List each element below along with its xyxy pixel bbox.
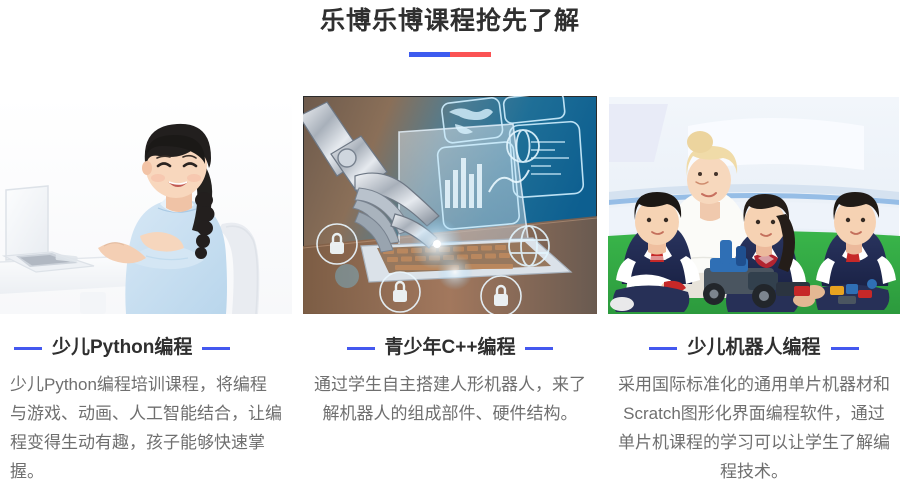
course-intro-page: 乐博乐博课程抢先了解 [0, 0, 900, 482]
page-header: 乐博乐博课程抢先了解 [0, 0, 900, 57]
dash-right-icon [525, 347, 553, 350]
dash-right-icon [202, 347, 230, 350]
title-divider-red-segment [450, 52, 491, 57]
card-title-robot: 少儿机器人编程 [687, 336, 820, 360]
course-card-list: 少儿Python编程 少儿Python编程培训课程，将编程与游戏、动画、人工智能… [0, 96, 900, 482]
card-title-row-robot: 少儿机器人编程 [608, 336, 900, 360]
robot-hand-laptop-photo[interactable] [303, 96, 597, 314]
card-title-row-python: 少儿Python编程 [0, 336, 292, 360]
card-title-cpp: 青少年C++编程 [385, 336, 516, 360]
card-description-python: 少儿Python编程培训课程，将编程与游戏、动画、人工智能结合，让编程变得生动有… [0, 370, 292, 482]
dash-left-icon [347, 347, 375, 350]
card-description-cpp: 通过学生自主搭建人形机器人，来了解机器人的组成部件、硬件结构。 [303, 370, 597, 428]
dash-left-icon [649, 347, 677, 350]
course-card-robot[interactable]: 少儿机器人编程 采用国际标准化的通用单片机器材和Scratch图形化界面编程软件… [608, 96, 900, 482]
course-card-python[interactable]: 少儿Python编程 少儿Python编程培训课程，将编程与游戏、动画、人工智能… [0, 96, 292, 482]
dash-left-icon [14, 347, 42, 350]
title-divider [409, 52, 491, 57]
card-title-python: 少儿Python编程 [52, 336, 192, 360]
course-card-cpp[interactable]: 青少年C++编程 通过学生自主搭建人形机器人，来了解机器人的组成部件、硬件结构。 [303, 96, 597, 428]
teacher-students-robot-photo[interactable] [608, 96, 900, 314]
title-divider-blue-segment [409, 52, 450, 57]
card-title-row-cpp: 青少年C++编程 [303, 336, 597, 360]
card-description-robot: 采用国际标准化的通用单片机器材和Scratch图形化界面编程软件，通过单片机课程… [608, 370, 900, 482]
girl-with-laptop-photo[interactable] [0, 96, 292, 314]
dash-right-icon [831, 347, 859, 350]
page-title: 乐博乐博课程抢先了解 [0, 4, 900, 38]
